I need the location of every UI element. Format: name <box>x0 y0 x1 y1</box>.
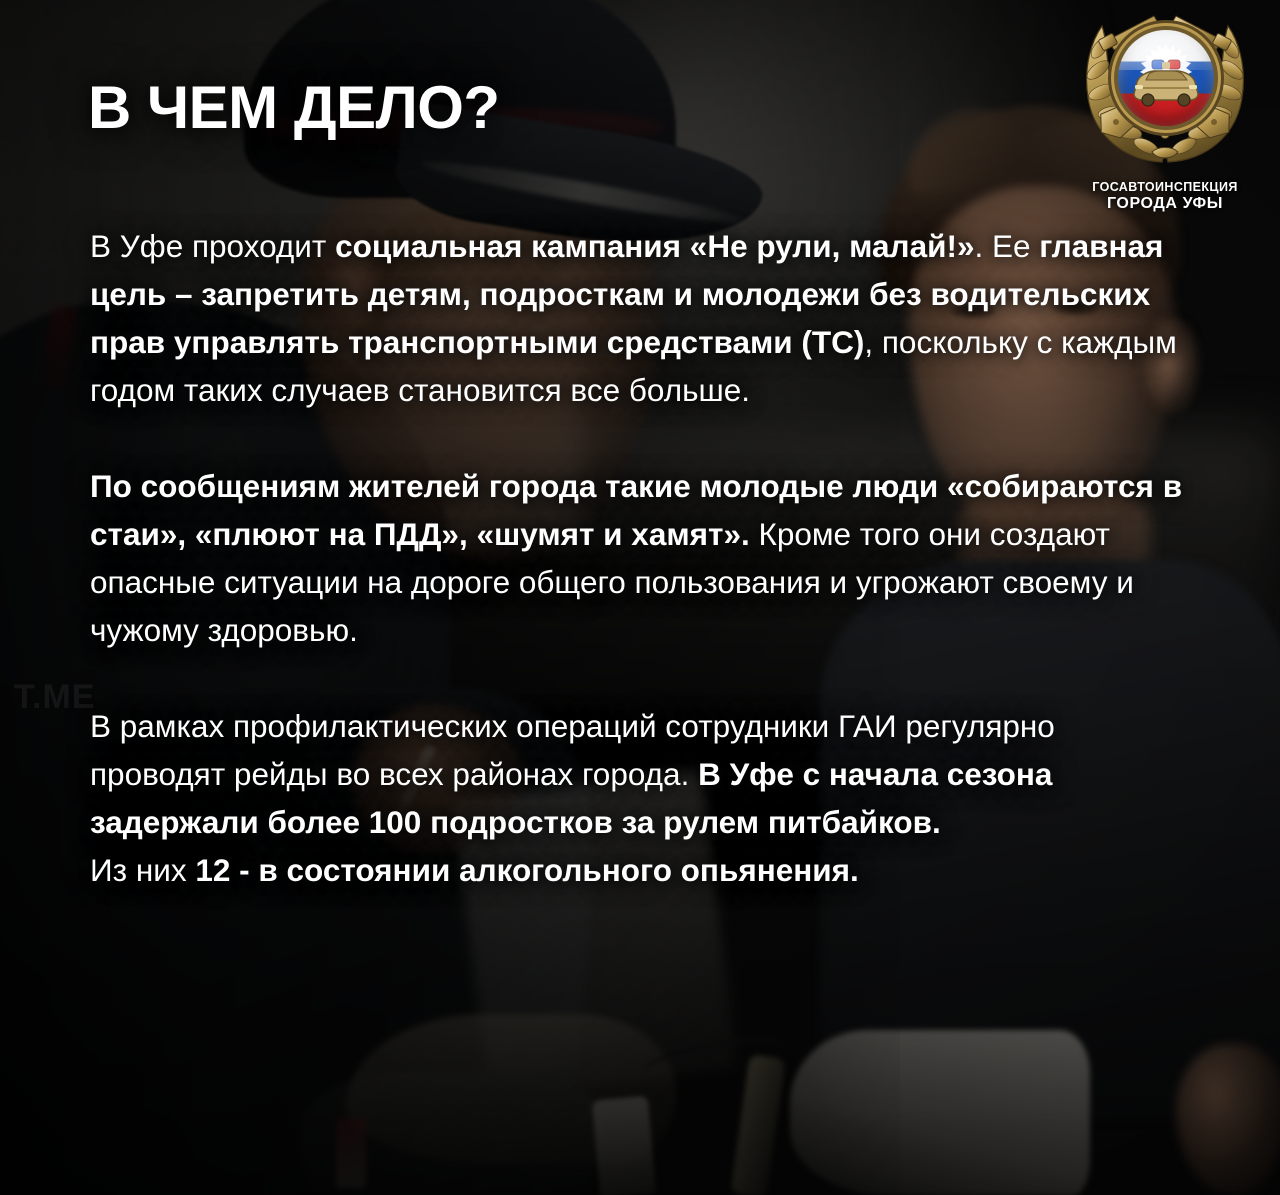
paragraph-drunk-stat: Из них 12 - в состоянии алкогольного опь… <box>90 846 1190 894</box>
text-run-regular: В Уфе проходит <box>90 228 335 264</box>
paragraph-raids-and-stats: В рамках профилактических операций сотру… <box>90 702 1190 846</box>
emblem-caption-agency: ГОСАВТОИНСПЕКЦИЯ <box>1064 180 1266 194</box>
poster-content: В ЧЕМ ДЕЛО? В Уфе проходит социальная ка… <box>0 0 1280 1195</box>
paragraph-campaign-intro: В Уфе проходит социальная кампания «Не р… <box>90 222 1190 414</box>
text-run-bold: социальная кампания «Не рули, малай!» <box>335 228 974 264</box>
poster-root: T.ME В ЧЕМ ДЕЛО? В Уфе проходит социальн… <box>0 0 1280 1195</box>
text-run-bold: 12 - в состоянии алкогольного опьянения. <box>195 852 858 888</box>
paragraph-resident-reports: По сообщениям жителей города такие молод… <box>90 462 1190 654</box>
tricolor-medallion <box>1118 30 1214 126</box>
police-car-icon <box>1118 30 1214 126</box>
text-run-regular: Из них <box>90 852 195 888</box>
body-copy: В Уфе проходит социальная кампания «Не р… <box>90 222 1190 894</box>
gibdd-emblem <box>1072 8 1258 174</box>
emblem-caption-city: ГОРОДА УФЫ <box>1064 195 1266 213</box>
page-title: В ЧЕМ ДЕЛО? <box>88 78 500 138</box>
text-run-regular: . Ее <box>974 228 1039 264</box>
gibdd-emblem-block: ГОСАВТОИНСПЕКЦИЯ ГОРОДА УФЫ <box>1064 8 1266 213</box>
